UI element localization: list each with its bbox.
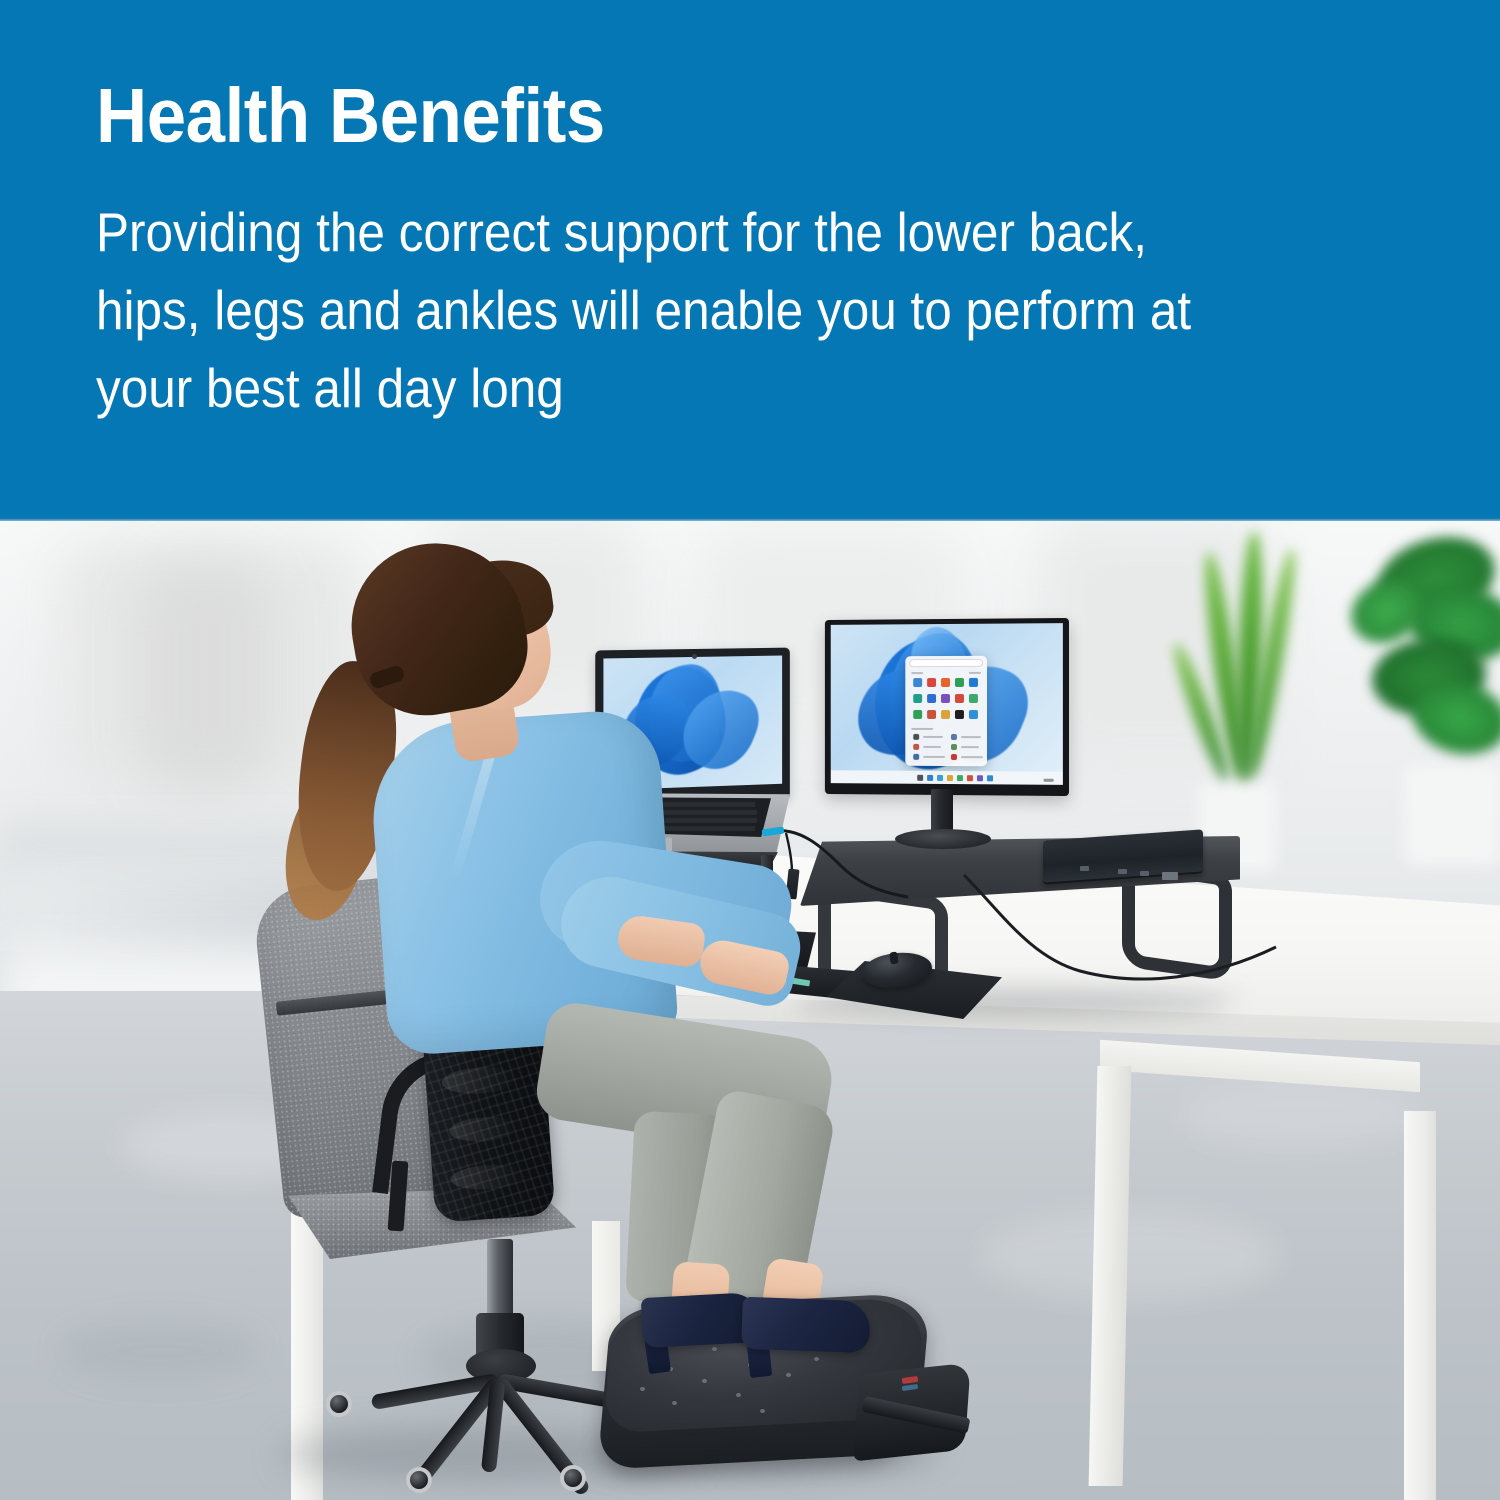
background-panel [140,561,270,791]
banner-title: Health Benefits [96,78,1388,155]
windows-start-menu[interactable] [905,656,987,766]
chair-caster [560,1465,586,1491]
health-benefits-banner: Health Benefits Providing the correct su… [0,0,1500,521]
start-menu-search[interactable] [909,659,983,667]
office-scene-photo: Woman seated at a white office desk usin… [0,521,1500,1500]
desk-leg [1404,1111,1436,1500]
laptop-webcam-icon [692,654,697,659]
monitor-screen [831,623,1063,785]
promo-image: Health Benefits Providing the correct su… [0,0,1500,1500]
banner-subtitle: Providing the correct support for the lo… [96,193,1257,427]
windows-taskbar[interactable] [831,770,1063,785]
mouse-scroll-wheel[interactable] [889,952,898,965]
shoe-right [741,1297,871,1353]
chair-caster [326,1391,352,1417]
chair-caster [406,1467,432,1493]
